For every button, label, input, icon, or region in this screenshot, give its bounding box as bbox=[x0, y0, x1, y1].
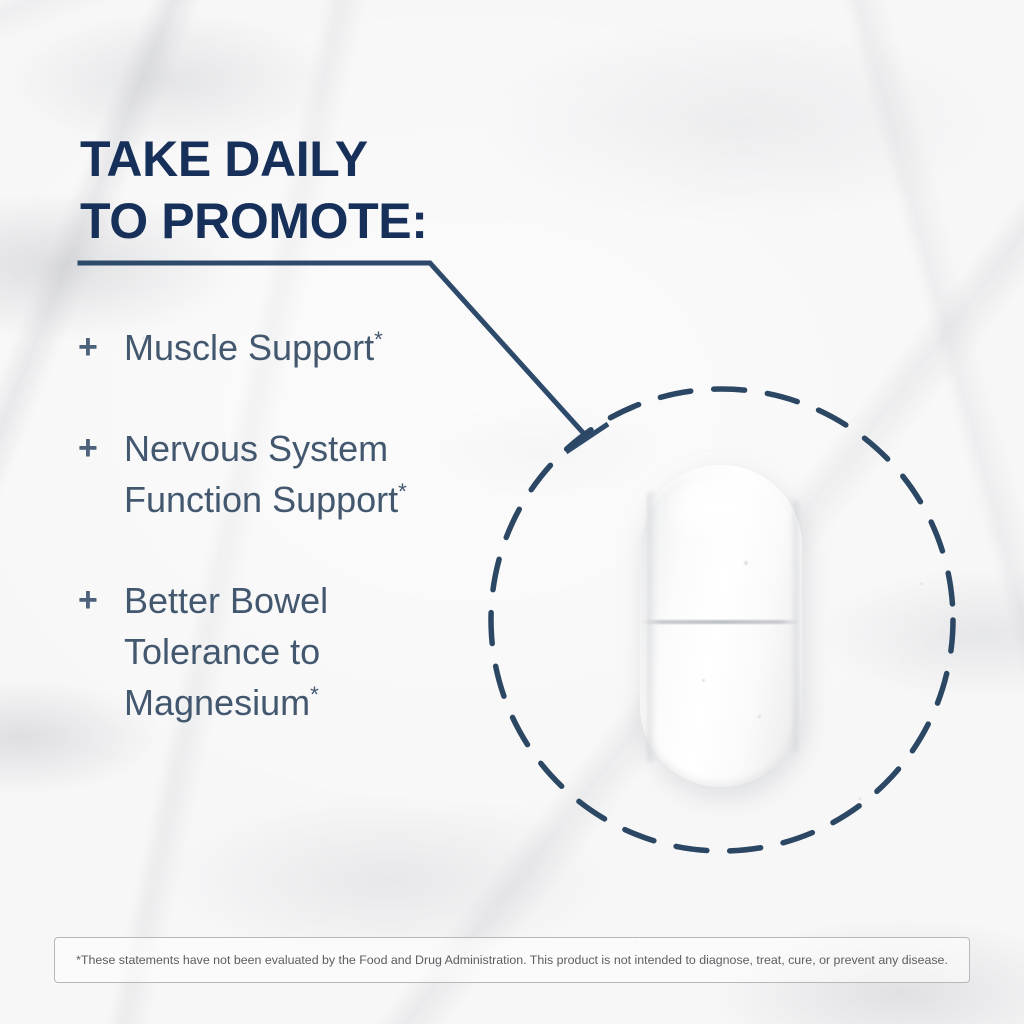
plus-icon: + bbox=[78, 423, 124, 474]
list-item: + Better Bowel Tolerance to Magnesium* bbox=[78, 575, 508, 728]
pill-score-highlight bbox=[646, 615, 796, 618]
pill-image bbox=[640, 465, 802, 787]
pill-bevel-left bbox=[647, 491, 658, 763]
promo-image-canvas: Take Daily to Promote: + Muscle Support*… bbox=[0, 0, 1024, 1024]
page-title: Take Daily to Promote: bbox=[80, 128, 500, 252]
pill-texture-speck bbox=[758, 715, 761, 718]
list-item: + Muscle Support* bbox=[78, 322, 508, 373]
footnote-marker: * bbox=[374, 327, 383, 352]
benefit-label-muscle-support: Muscle Support* bbox=[124, 322, 383, 373]
benefit-label-nervous-system-support: Nervous System Function Support* bbox=[124, 423, 407, 525]
pill-texture-speck bbox=[702, 679, 705, 682]
pill-bevel-right bbox=[789, 499, 798, 753]
pill-texture-speck bbox=[744, 561, 748, 565]
footnote-marker: * bbox=[398, 479, 407, 504]
plus-icon: + bbox=[78, 575, 124, 626]
plus-icon: + bbox=[78, 322, 124, 373]
pill-gloss-highlight bbox=[666, 479, 770, 549]
product-spotlight bbox=[488, 386, 956, 854]
footnote-marker: * bbox=[310, 682, 319, 707]
benefits-list: + Muscle Support* + Nervous System Funct… bbox=[78, 322, 508, 728]
disclaimer-box: *These statements have not been evaluate… bbox=[54, 937, 970, 983]
pill-score-line bbox=[642, 620, 800, 624]
disclaimer-text: *These statements have not been evaluate… bbox=[76, 952, 948, 968]
list-item: + Nervous System Function Support* bbox=[78, 423, 508, 525]
benefit-label-bowel-tolerance: Better Bowel Tolerance to Magnesium* bbox=[124, 575, 328, 728]
